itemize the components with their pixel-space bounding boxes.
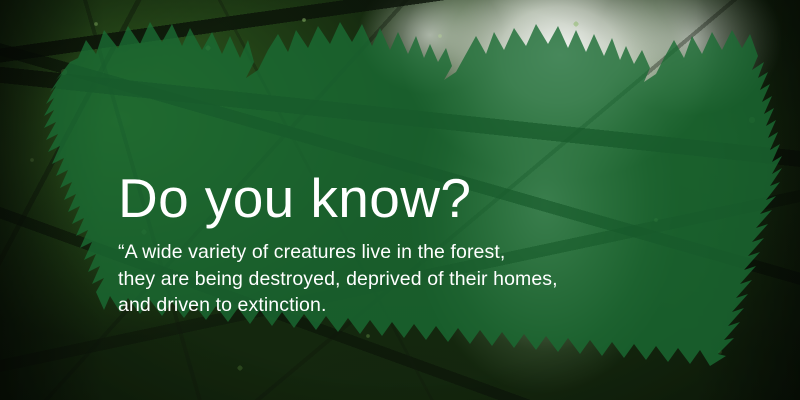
quote-text: “A wide variety of creatures live in the…: [118, 239, 678, 319]
page-title: Do you know?: [118, 168, 678, 228]
quote-line-2: they are being destroyed, deprived of th…: [118, 266, 678, 293]
forest-awareness-banner: Do you know? “A wide variety of creature…: [0, 0, 800, 400]
banner-copy-block: Do you know? “A wide variety of creature…: [118, 168, 678, 319]
quote-line-3: and driven to extinction.: [118, 292, 678, 319]
quote-line-1: “A wide variety of creatures live in the…: [118, 239, 678, 266]
